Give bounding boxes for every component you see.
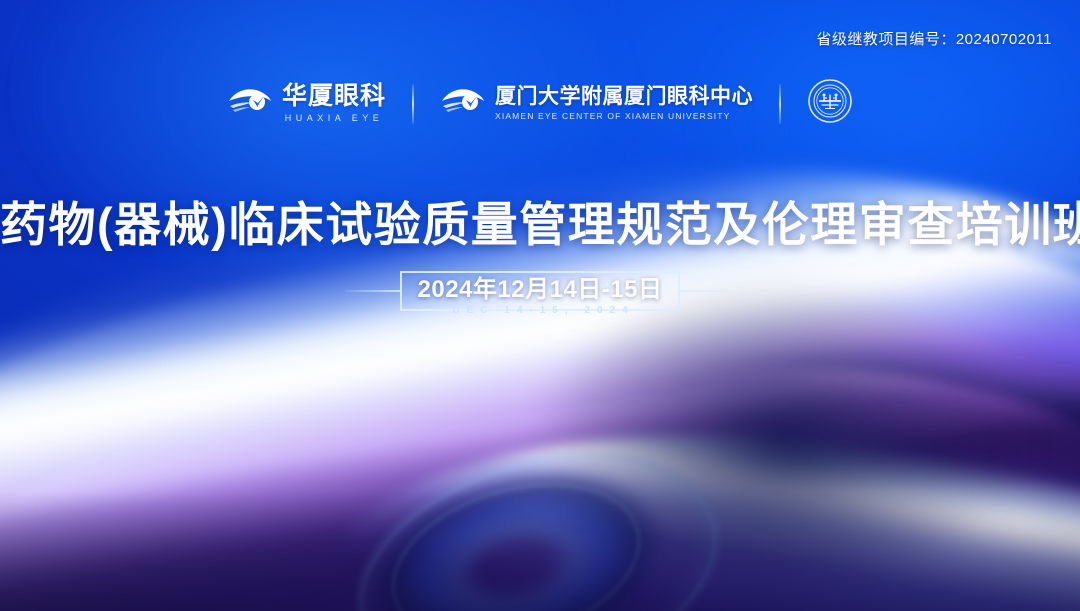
logo-huaxia-name-en: HUAXIA EYE xyxy=(282,114,386,123)
conference-poster: 省级继教项目编号：20240702011 华厦眼科 HUAXIA EYE xyxy=(0,0,1080,611)
logo-xiamen-name-en: XIAMEN EYE CENTER OF XIAMEN UNIVERSITY xyxy=(495,112,753,121)
date-rule-right xyxy=(679,290,735,292)
poster-content: 省级继教项目编号：20240702011 华厦眼科 HUAXIA EYE xyxy=(0,0,1080,611)
eye-logo-icon xyxy=(440,86,486,121)
project-number: 省级继教项目编号：20240702011 xyxy=(816,28,1052,49)
date-rule-left xyxy=(345,290,401,292)
page-title: 药物(器械)临床试验质量管理规范及伦理审查培训班 xyxy=(0,186,1080,255)
date-chinese: 2024年12月14日-15日 xyxy=(418,276,663,303)
logo-huaxia-name-cn: 华厦眼科 xyxy=(282,84,386,109)
logo-huaxia-text: 华厦眼科 HUAXIA EYE xyxy=(282,84,386,123)
eye-logo-icon xyxy=(227,86,273,121)
logo-xiamen-eye-center: 厦门大学附属厦门眼科中心 XIAMEN EYE CENTER OF XIAMEN… xyxy=(440,86,753,121)
date-english: DEC 14-15, 2024 xyxy=(0,305,1080,316)
logo-divider-2 xyxy=(779,84,781,124)
logo-huaxia-eye: 华厦眼科 HUAXIA EYE xyxy=(227,84,386,123)
university-seal-icon xyxy=(807,78,853,129)
logo-xiamen-name-cn: 厦门大学附属厦门眼科中心 xyxy=(495,86,753,107)
logo-xiamen-text: 厦门大学附属厦门眼科中心 XIAMEN EYE CENTER OF XIAMEN… xyxy=(495,86,753,121)
logo-divider-1 xyxy=(412,84,414,124)
logo-row: 华厦眼科 HUAXIA EYE 厦门大学附属厦门眼科中 xyxy=(0,78,1080,129)
